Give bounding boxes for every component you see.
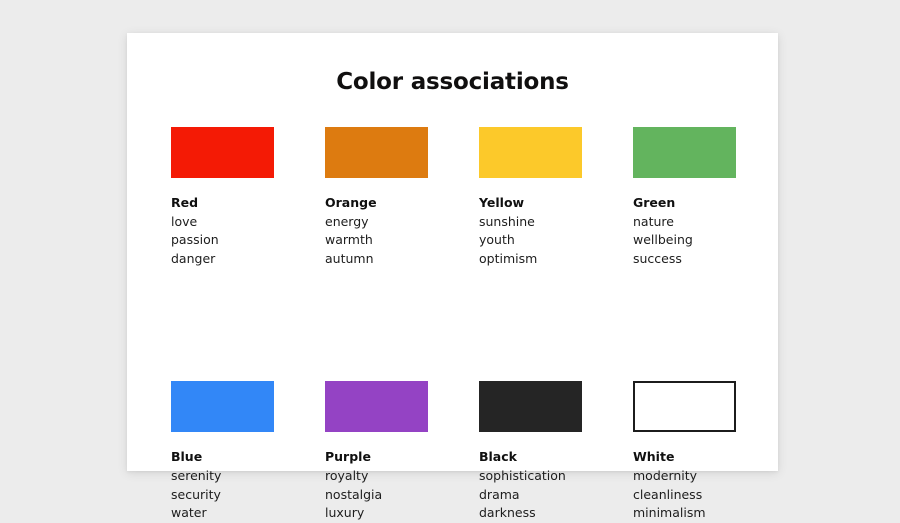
association-list: modernitycleanlinessminimalism — [633, 467, 736, 523]
association-item: nature — [633, 213, 736, 232]
color-name: Green — [633, 194, 736, 213]
association-item: passion — [171, 231, 274, 250]
color-entry: Orangeenergywarmthautumn — [325, 127, 428, 268]
color-swatch[interactable] — [479, 127, 582, 178]
screen: Color associations RedlovepassiondangerO… — [0, 0, 900, 506]
color-name: White — [633, 448, 736, 467]
color-associations-card: Color associations RedlovepassiondangerO… — [127, 33, 778, 471]
color-name: Yellow — [479, 194, 582, 213]
color-entry: Greennaturewellbeingsuccess — [633, 127, 736, 268]
color-entry: Blueserenitysecuritywater — [171, 381, 274, 522]
color-swatch[interactable] — [633, 381, 736, 432]
color-swatch[interactable] — [633, 127, 736, 178]
color-swatch[interactable] — [171, 381, 274, 432]
color-entry: Blacksophisticationdramadarkness — [479, 381, 582, 522]
association-item: love — [171, 213, 274, 232]
association-item: drama — [479, 486, 582, 505]
association-item: youth — [479, 231, 582, 250]
color-grid: RedlovepassiondangerOrangeenergywarmthau… — [171, 127, 737, 523]
color-entry: Whitemodernitycleanlinessminimalism — [633, 381, 736, 522]
association-item: sophistication — [479, 467, 582, 486]
association-list: serenitysecuritywater — [171, 467, 274, 523]
association-item: water — [171, 504, 274, 523]
color-name: Purple — [325, 448, 428, 467]
association-list: sophisticationdramadarkness — [479, 467, 582, 523]
color-swatch[interactable] — [479, 381, 582, 432]
association-list: royaltynostalgialuxury — [325, 467, 428, 523]
color-entry: Purpleroyaltynostalgialuxury — [325, 381, 428, 522]
color-name: Red — [171, 194, 274, 213]
association-item: danger — [171, 250, 274, 269]
color-name: Orange — [325, 194, 428, 213]
association-list: naturewellbeingsuccess — [633, 213, 736, 269]
association-item: minimalism — [633, 504, 736, 523]
color-entry: Redlovepassiondanger — [171, 127, 274, 268]
association-item: energy — [325, 213, 428, 232]
color-swatch[interactable] — [325, 127, 428, 178]
color-entry: Yellowsunshineyouthoptimism — [479, 127, 582, 268]
association-item: luxury — [325, 504, 428, 523]
association-item: modernity — [633, 467, 736, 486]
association-item: security — [171, 486, 274, 505]
association-list: energywarmthautumn — [325, 213, 428, 269]
association-item: sunshine — [479, 213, 582, 232]
association-list: lovepassiondanger — [171, 213, 274, 269]
association-item: nostalgia — [325, 486, 428, 505]
association-item: cleanliness — [633, 486, 736, 505]
association-item: success — [633, 250, 736, 269]
color-grid-row: BlueserenitysecuritywaterPurpleroyaltyno… — [171, 381, 737, 522]
association-item: serenity — [171, 467, 274, 486]
color-grid-row: RedlovepassiondangerOrangeenergywarmthau… — [171, 127, 737, 268]
association-list: sunshineyouthoptimism — [479, 213, 582, 269]
association-item: royalty — [325, 467, 428, 486]
association-item: autumn — [325, 250, 428, 269]
color-name: Black — [479, 448, 582, 467]
association-item: darkness — [479, 504, 582, 523]
association-item: optimism — [479, 250, 582, 269]
page-title: Color associations — [127, 69, 778, 95]
color-swatch[interactable] — [171, 127, 274, 178]
association-item: warmth — [325, 231, 428, 250]
association-item: wellbeing — [633, 231, 736, 250]
color-swatch[interactable] — [325, 381, 428, 432]
color-name: Blue — [171, 448, 274, 467]
